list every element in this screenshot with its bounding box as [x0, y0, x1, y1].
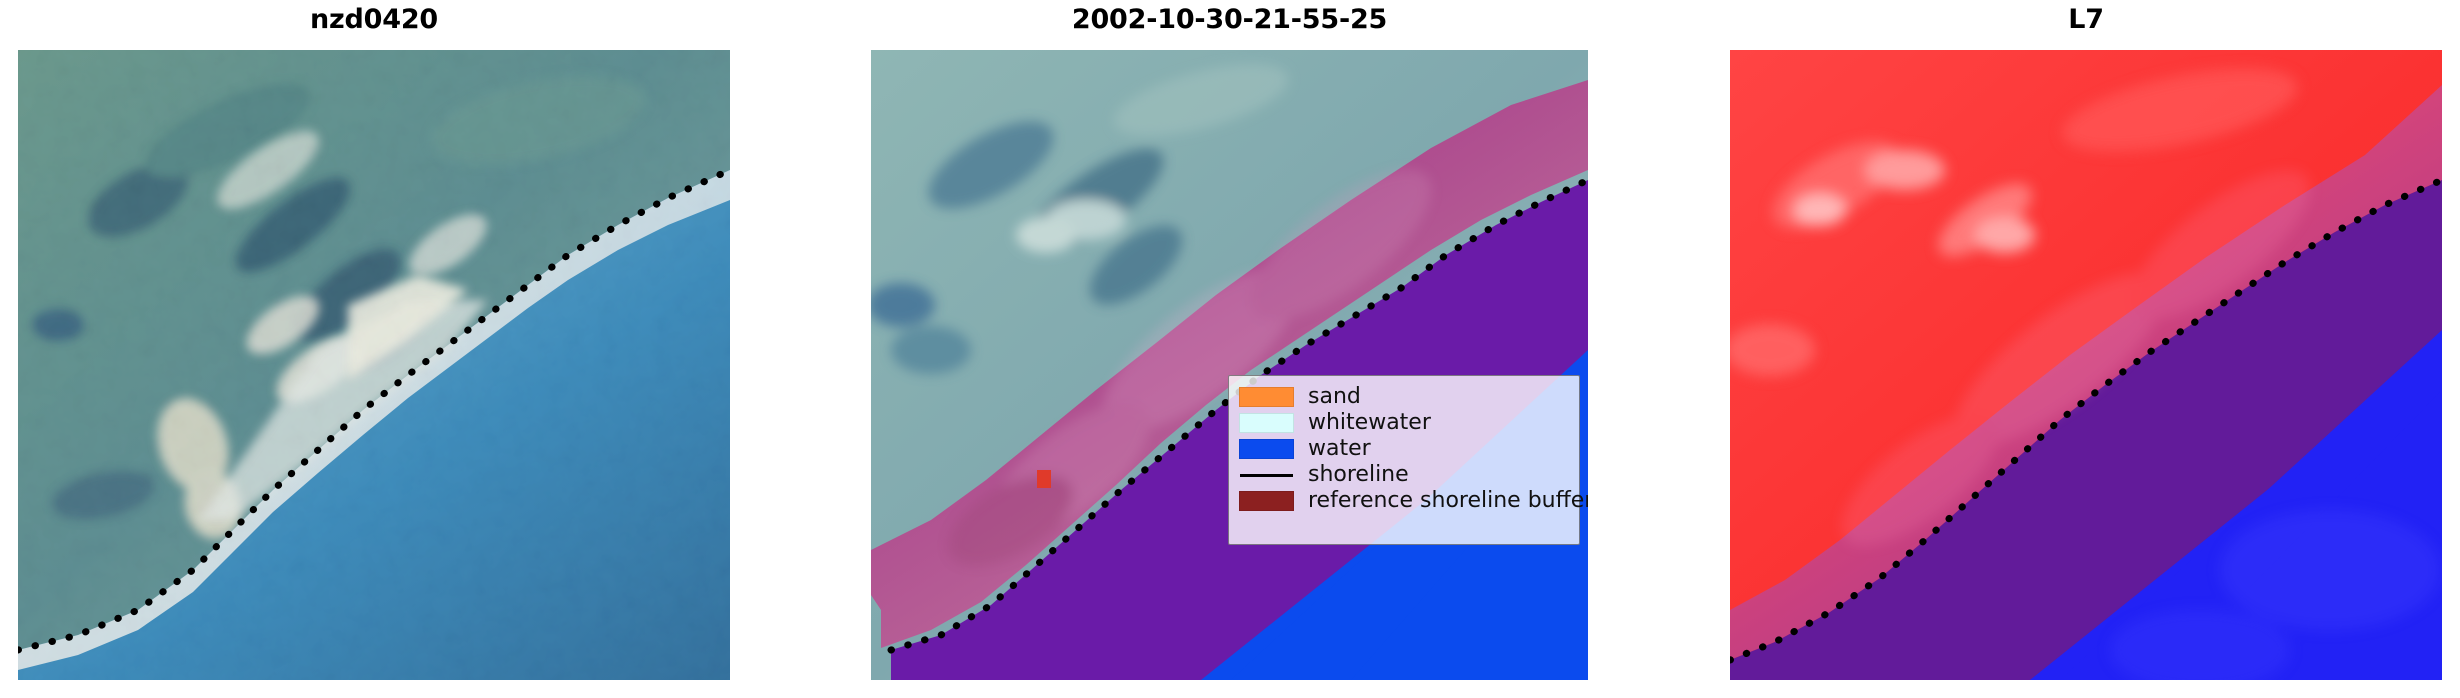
axes-classified: sand whitewater water shoreline referenc…	[871, 50, 1588, 680]
legend-swatch-whitewater	[1239, 413, 1294, 433]
panel-title-rgb: nzd0420	[18, 4, 730, 36]
legend-label-whitewater: whitewater	[1308, 411, 1431, 435]
classified-overlay-image	[871, 50, 1588, 680]
legend-item-sand: sand	[1239, 384, 1569, 410]
legend-swatch-sand	[1239, 387, 1294, 407]
index-raster-image	[1730, 50, 2442, 680]
legend-label-sand: sand	[1308, 385, 1361, 409]
panel-title-classified: 2002-10-30-21-55-25	[871, 4, 1588, 36]
panel-title-index: L7	[1730, 4, 2442, 36]
legend-label-reference-shoreline-buffer: reference shoreline buffer	[1308, 489, 1588, 513]
legend-item-shoreline: shoreline	[1239, 462, 1569, 488]
legend-swatch-reference-shoreline-buffer	[1239, 491, 1294, 511]
legend-box: sand whitewater water shoreline referenc…	[1228, 375, 1580, 545]
detected-pixel-marker	[1037, 470, 1051, 488]
legend-label-shoreline: shoreline	[1308, 463, 1409, 487]
legend-label-water: water	[1308, 437, 1371, 461]
satellite-rgb-image	[18, 50, 730, 680]
legend-swatch-water	[1239, 439, 1294, 459]
figure-root: nzd0420	[0, 0, 2460, 698]
legend-item-reference-shoreline-buffer: reference shoreline buffer	[1239, 488, 1569, 514]
legend-item-water: water	[1239, 436, 1569, 462]
axes-index	[1730, 50, 2442, 680]
legend-swatch-shoreline	[1239, 465, 1294, 485]
legend-item-whitewater: whitewater	[1239, 410, 1569, 436]
axes-rgb	[18, 50, 730, 680]
